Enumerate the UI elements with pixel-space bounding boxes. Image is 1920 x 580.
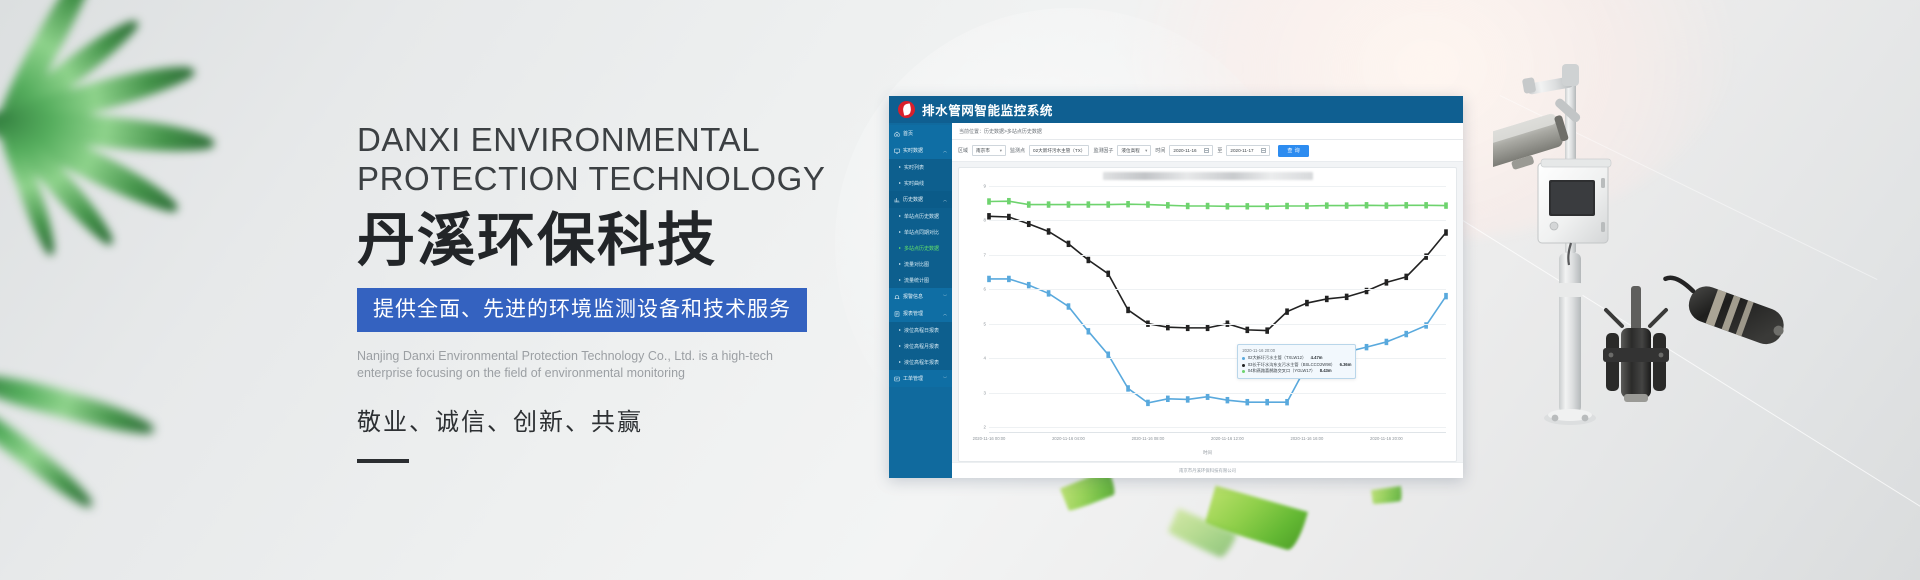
- tooltip-series-name: 04和燕路喜鹊路交叉口（YGLW17）: [1248, 368, 1315, 375]
- level-sensor-icon: [1656, 271, 1790, 349]
- region-value: 南京市: [976, 148, 990, 154]
- sidebar-item-history-data[interactable]: 历史数据 ︿: [889, 191, 952, 208]
- sidebar-item-label: 液位高程日报表: [904, 327, 939, 334]
- chart-data-point: [1345, 294, 1349, 300]
- region-label: 区域: [958, 147, 968, 154]
- chart-series-svg: [989, 186, 1446, 427]
- sidebar-item-label: 实时曲线: [904, 180, 924, 187]
- series-color-dot-icon: [1242, 357, 1245, 360]
- series-color-dot-icon: [1242, 370, 1245, 373]
- sidebar-item-alarm-info[interactable]: 报警信息 ﹀: [889, 288, 952, 305]
- sidebar-item-label: 液位高程月报表: [904, 343, 939, 350]
- chart-data-point: [1087, 328, 1091, 334]
- sidebar-item-label: 报警信息: [903, 293, 923, 300]
- chart-data-point: [1146, 201, 1150, 207]
- chart-gridline: [989, 358, 1446, 359]
- chart-x-axis-line: [989, 432, 1446, 433]
- chart-data-point: [1027, 282, 1031, 288]
- chart-data-point: [1206, 203, 1210, 209]
- chart-data-point: [1206, 394, 1210, 400]
- chart-data-point: [1206, 325, 1210, 331]
- chart-data-point: [1047, 290, 1051, 296]
- water-quality-probe-icon: [1603, 286, 1669, 402]
- chart-gridline: [989, 255, 1446, 256]
- tooltip-series-value: 8.43m: [1320, 368, 1332, 375]
- sidebar-item-multi-station-history[interactable]: 多站点历史数据: [889, 240, 952, 256]
- time-label: 时间: [1155, 147, 1165, 154]
- ticket-icon: [894, 376, 900, 382]
- chart-data-point: [1106, 201, 1110, 207]
- filter-toolbar: 区域 南京市 ▾ 监测点 02大新圩污水主管（TX） 监测因子 液位高程 ▾ 时…: [952, 140, 1463, 162]
- app-body: 首页 实时数据 ︿ 实时列表 实时曲线 历史数据: [889, 123, 1463, 478]
- hero-text-block: DANXI ENVIRONMENTAL PROTECTION TECHNOLOG…: [357, 120, 897, 463]
- chart-plot-area: 98765432: [989, 186, 1446, 427]
- chart-data-point: [1007, 198, 1011, 204]
- chart-data-point: [1325, 296, 1329, 302]
- sidebar-item-label: 流量对比图: [904, 261, 929, 268]
- chart-data-point: [1106, 351, 1110, 357]
- app-footer: 南京市丹溪环保科技有限公司: [952, 462, 1463, 478]
- chart-data-point: [1325, 202, 1329, 208]
- chart-x-tick-label: 2020-11-16 04:00: [1052, 436, 1085, 441]
- report-icon: [894, 311, 900, 317]
- chart-data-point: [1146, 400, 1150, 406]
- caret-right-icon: [899, 263, 901, 265]
- chart-data-point: [1166, 396, 1170, 402]
- date-range-separator: 至: [1217, 147, 1222, 154]
- chart-x-tick-label: 2020-11-16 08:00: [1132, 436, 1165, 441]
- chart-series-line: [989, 216, 1446, 330]
- hero-english-line-2: PROTECTION TECHNOLOGY: [357, 159, 897, 198]
- chart-data-point: [1067, 303, 1071, 309]
- chevron-down-icon: ▾: [1000, 148, 1002, 154]
- chart-data-point: [1087, 257, 1091, 263]
- chart-data-point: [1087, 201, 1091, 207]
- chart-x-tick-labels: 2020-11-16 00:002020-11-16 04:002020-11-…: [989, 436, 1446, 446]
- chart-y-tick-label: 8: [984, 218, 986, 223]
- chart-y-tick-label: 5: [984, 321, 986, 326]
- chart-data-point: [1007, 276, 1011, 282]
- sidebar-item-label: 历史数据: [903, 196, 923, 203]
- chart-data-point: [1444, 229, 1448, 235]
- caret-right-icon: [899, 329, 901, 331]
- chart-y-tick-label: 4: [984, 356, 986, 361]
- app-title: 排水管网智能监控系统: [922, 100, 1053, 119]
- chart-data-point: [1365, 344, 1369, 350]
- sidebar-item-label: 首页: [903, 130, 913, 137]
- sidebar-item-level-yearly-report[interactable]: 液位高程年报表: [889, 354, 952, 370]
- chart-gridline: [989, 324, 1446, 325]
- chart-y-tick-label: 9: [984, 184, 986, 189]
- chevron-down-icon: ﹀: [943, 376, 947, 382]
- chart-data-point: [1106, 271, 1110, 277]
- chevron-up-icon: ︿: [943, 311, 947, 317]
- chart-data-point: [1226, 397, 1230, 403]
- chevron-down-icon: ﹀: [943, 294, 947, 300]
- chart-bar-icon: [894, 197, 900, 203]
- monitor-icon: [894, 148, 900, 154]
- date-start-value: 2020-11-16: [1173, 148, 1196, 153]
- chart-data-point: [1166, 324, 1170, 330]
- sidebar: 首页 实时数据 ︿ 实时列表 实时曲线 历史数据: [889, 123, 952, 478]
- chart-data-point: [1047, 201, 1051, 207]
- sidebar-item-single-station-compare[interactable]: 单站点同期对比: [889, 224, 952, 240]
- chart-data-point: [1047, 228, 1051, 234]
- hero-tagline-band: 提供全面、先进的环境监测设备和技术服务: [357, 288, 807, 332]
- sidebar-item-report-management[interactable]: 报表管理 ︿: [889, 305, 952, 322]
- sidebar-item-label: 单站点同期对比: [904, 229, 939, 236]
- chart-data-point: [1305, 203, 1309, 209]
- sidebar-item-label: 实时列表: [904, 164, 924, 171]
- hero-motto: 敬业、诚信、创新、共赢: [357, 402, 897, 437]
- sidebar-item-level-daily-report[interactable]: 液位高程日报表: [889, 322, 952, 338]
- caret-right-icon: [899, 361, 901, 363]
- station-select[interactable]: 02大新圩污水主管（TX）: [1029, 145, 1089, 156]
- chart-data-point: [1067, 201, 1071, 207]
- sidebar-item-ticket-management[interactable]: 工单管理 ﹀: [889, 370, 952, 387]
- chart-data-point: [1385, 279, 1389, 285]
- caret-right-icon: [899, 231, 901, 233]
- sidebar-item-realtime-curve[interactable]: 实时曲线: [889, 175, 952, 191]
- chart-data-point: [1345, 202, 1349, 208]
- chart-data-point: [1186, 396, 1190, 402]
- app-header: 排水管网智能监控系统: [889, 96, 1463, 123]
- bell-icon: [894, 294, 900, 300]
- chart-data-point: [1285, 203, 1289, 209]
- chart-data-point: [1305, 300, 1309, 306]
- chart-data-point: [1007, 214, 1011, 220]
- chart-title-placeholder: [1103, 172, 1313, 180]
- hero-description: Nanjing Danxi Environmental Protection T…: [357, 348, 827, 382]
- chart-data-point: [1444, 202, 1448, 208]
- chart-data-point: [987, 198, 991, 204]
- chart-data-point: [1126, 201, 1130, 207]
- chart-data-point: [1265, 399, 1269, 405]
- tooltip-time: 2020-11-16 20:00: [1242, 348, 1351, 355]
- chart-x-tick-label: 2020-11-16 20:00: [1370, 436, 1403, 441]
- chart-data-point: [1404, 202, 1408, 208]
- sidebar-item-label: 工单管理: [903, 375, 923, 382]
- date-end-input[interactable]: 2020-11-17: [1226, 145, 1270, 156]
- sidebar-item-flow-statistics-chart[interactable]: 流量统计图: [889, 272, 952, 288]
- chart-gridline: [989, 220, 1446, 221]
- date-start-input[interactable]: 2020-11-16: [1169, 145, 1213, 156]
- chart-data-point: [1067, 241, 1071, 247]
- chart-data-point: [1444, 293, 1448, 299]
- chart-series-line: [989, 201, 1446, 206]
- chart-data-point: [1285, 308, 1289, 314]
- sidebar-item-flow-compare-chart[interactable]: 流量对比图: [889, 256, 952, 272]
- chart-data-point: [1265, 203, 1269, 209]
- chart-data-point: [987, 213, 991, 219]
- chart-data-point: [1166, 202, 1170, 208]
- chart-data-point: [987, 276, 991, 282]
- sidebar-item-label: 液位高程年报表: [904, 359, 939, 366]
- floating-leaf-icon: [1371, 486, 1403, 505]
- chart-y-tick-label: 6: [984, 287, 986, 292]
- calendar-icon: [1204, 148, 1209, 153]
- equipment-illustration: [1493, 28, 1920, 478]
- chart-y-tick-label: 7: [984, 252, 986, 257]
- station-value: 02大新圩污水主管（TX）: [1033, 148, 1085, 154]
- date-end-value: 2020-11-17: [1230, 148, 1253, 153]
- chart-data-point: [1226, 203, 1230, 209]
- chart-card: 液位高程(m) 98765432 2020-11-16 00:002020-11…: [958, 167, 1457, 462]
- hero-english-title: DANXI ENVIRONMENTAL PROTECTION TECHNOLOG…: [357, 120, 897, 198]
- breadcrumb: 当前位置：历史数据>多站点历史数据: [952, 123, 1463, 140]
- chart-data-point: [1385, 339, 1389, 345]
- chart-data-point: [1365, 202, 1369, 208]
- tooltip-series-value: 6.36m: [1340, 362, 1352, 369]
- bamboo-leaf-cluster: [0, 0, 260, 290]
- bamboo-leaf-cluster-lower: [0, 330, 220, 510]
- calendar-icon: [1261, 148, 1266, 153]
- chart-data-point: [1404, 331, 1408, 337]
- tooltip-row: 04和燕路喜鹊路交叉口（YGLW17） 8.43m: [1242, 368, 1351, 375]
- sidebar-item-single-station-history[interactable]: 单站点历史数据: [889, 208, 952, 224]
- chart-gridline: [989, 289, 1446, 290]
- sidebar-item-label: 单站点历史数据: [904, 213, 939, 220]
- main-content: 当前位置：历史数据>多站点历史数据 区域 南京市 ▾ 监测点 02大新圩污水主管…: [952, 123, 1463, 478]
- chart-gridline: [989, 427, 1446, 428]
- chart-data-point: [1385, 202, 1389, 208]
- caret-right-icon: [899, 247, 901, 249]
- caret-right-icon: [899, 182, 901, 184]
- chart-y-tick-label: 2: [984, 425, 986, 430]
- caret-right-icon: [899, 166, 901, 168]
- chart-data-point: [1285, 399, 1289, 405]
- chart-x-tick-label: 2020-11-16 12:00: [1211, 436, 1244, 441]
- hero-english-line-1: DANXI ENVIRONMENTAL: [357, 120, 897, 159]
- chart-data-point: [1265, 327, 1269, 333]
- caret-right-icon: [899, 279, 901, 281]
- chart-data-point: [1186, 203, 1190, 209]
- chart-series-line: [989, 279, 1446, 403]
- hero-chinese-title: 丹溪环保科技: [357, 208, 897, 274]
- chart-data-point: [1027, 221, 1031, 227]
- chart-data-point: [1027, 201, 1031, 207]
- chevron-up-icon: ︿: [943, 197, 947, 203]
- chevron-down-icon: ▾: [1145, 148, 1147, 154]
- chart-data-point: [1126, 385, 1130, 391]
- chart-y-tick-label: 3: [984, 390, 986, 395]
- factor-label: 监测因子: [1093, 147, 1113, 154]
- hero-underline-rule: [357, 459, 409, 463]
- chart-gridline: [989, 186, 1446, 187]
- sidebar-item-label: 多站点历史数据: [904, 245, 939, 252]
- chart-data-point: [1245, 399, 1249, 405]
- sidebar-item-label: 实时数据: [903, 147, 923, 154]
- chevron-up-icon: ︿: [943, 148, 947, 154]
- query-button[interactable]: 查 询: [1278, 145, 1309, 157]
- chart-data-point: [1404, 274, 1408, 280]
- chart-data-point: [1424, 202, 1428, 208]
- factor-select[interactable]: 液位高程 ▾: [1117, 145, 1151, 156]
- sidebar-item-label: 流量统计图: [904, 277, 929, 284]
- chart-x-tick-label: 2020-11-16 00:00: [973, 436, 1006, 441]
- home-icon: [894, 131, 900, 137]
- chart-tooltip: 2020-11-16 20:00 02大新圩污水主管（TXLW12） 4.47m…: [1237, 344, 1356, 379]
- company-swirl-logo-icon: [898, 101, 915, 118]
- sidebar-item-label: 报表管理: [903, 310, 923, 317]
- station-label: 监测点: [1010, 147, 1025, 154]
- chart-data-point: [1126, 307, 1130, 313]
- chart-data-point: [1245, 203, 1249, 209]
- sidebar-item-realtime-data[interactable]: 实时数据 ︿: [889, 142, 952, 159]
- chart-x-tick-label: 2020-11-16 16:00: [1291, 436, 1324, 441]
- caret-right-icon: [899, 215, 901, 217]
- caret-right-icon: [899, 345, 901, 347]
- factor-value: 液位高程: [1121, 148, 1139, 154]
- chart-gridline: [989, 393, 1446, 394]
- chart-x-axis-title: 时间: [959, 450, 1456, 456]
- monitoring-app-window: 排水管网智能监控系统 首页 实时数据 ︿ 实时列表: [889, 96, 1463, 478]
- chart-data-point: [1245, 327, 1249, 333]
- region-select[interactable]: 南京市 ▾: [972, 145, 1006, 156]
- sidebar-item-home[interactable]: 首页: [889, 125, 952, 142]
- chart-data-point: [1186, 325, 1190, 331]
- sidebar-item-level-monthly-report[interactable]: 液位高程月报表: [889, 338, 952, 354]
- sidebar-item-realtime-list[interactable]: 实时列表: [889, 159, 952, 175]
- series-color-dot-icon: [1242, 364, 1245, 367]
